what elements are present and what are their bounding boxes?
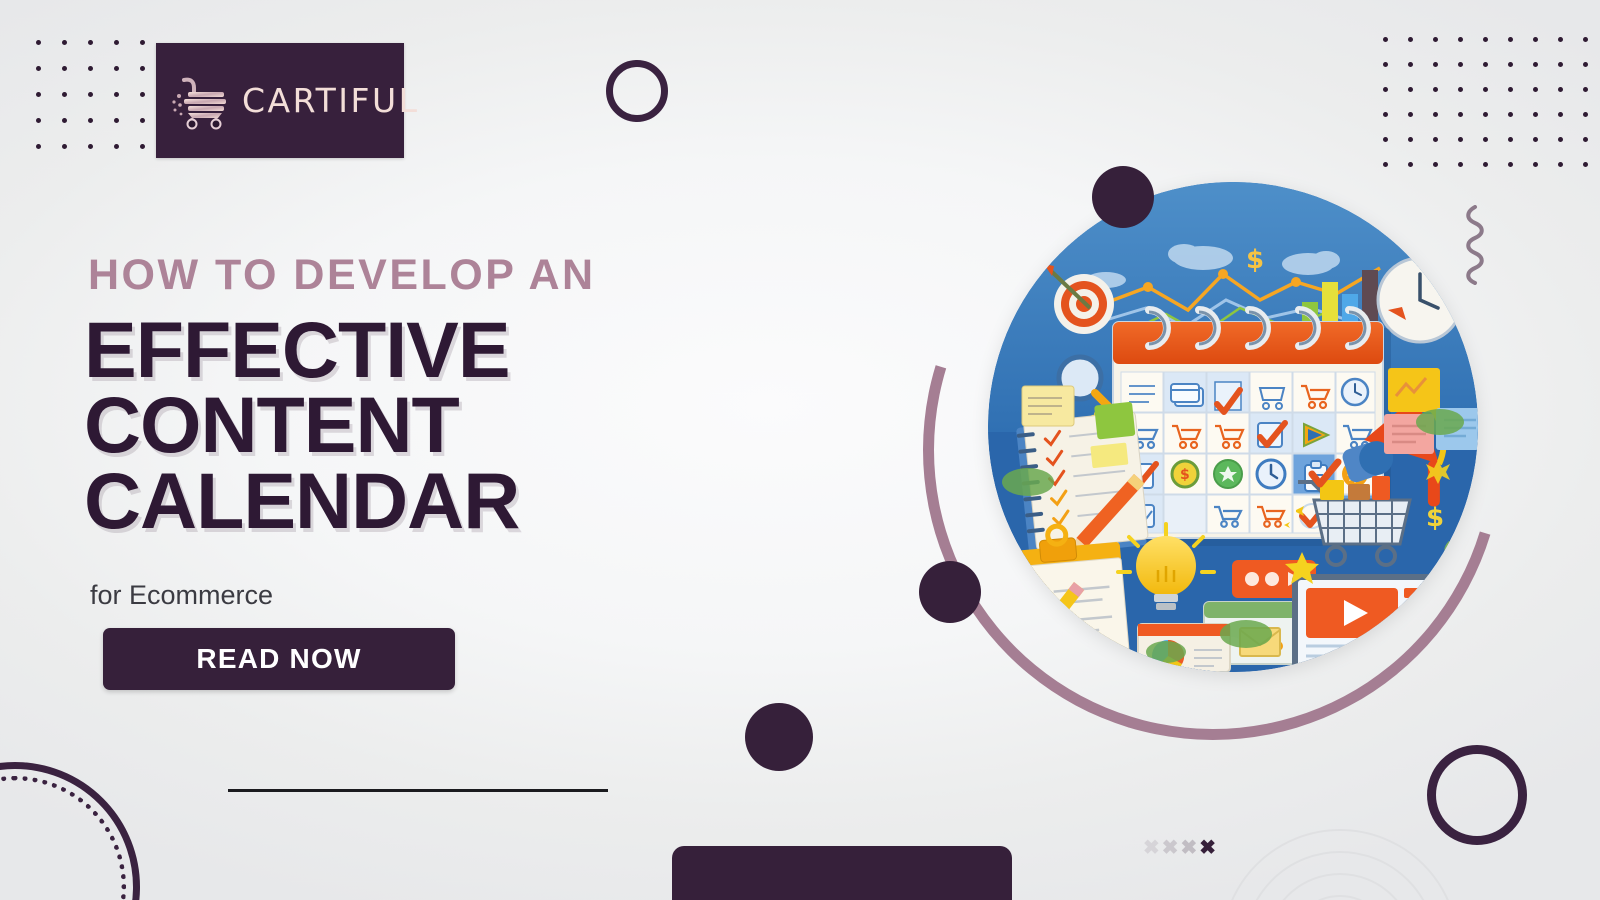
grid-dot	[1383, 137, 1388, 142]
ring-outline-top	[606, 60, 668, 122]
grid-dot	[1508, 162, 1513, 167]
grid-dot	[1458, 62, 1463, 67]
grid-dot	[1533, 112, 1538, 117]
grid-dot	[1483, 112, 1488, 117]
grid-dot	[1558, 112, 1563, 117]
grid-dot	[1483, 62, 1488, 67]
squiggle-decoration	[1462, 205, 1488, 285]
headline-line-3: CALENDAR	[84, 463, 519, 538]
grid-dot	[62, 40, 67, 45]
grid-dot	[88, 118, 93, 123]
grid-dot	[140, 144, 145, 149]
solid-dot-illustration-left	[919, 561, 981, 623]
concentric-arcs-decoration	[1200, 818, 1480, 900]
grid-dot	[1433, 87, 1438, 92]
x-mark-icon: ✖	[1181, 838, 1198, 858]
grid-dot	[1558, 162, 1563, 167]
grid-dot	[114, 144, 119, 149]
grid-dot	[1533, 137, 1538, 142]
grid-dot	[36, 118, 41, 123]
grid-dot	[1408, 162, 1413, 167]
grid-dot	[1483, 162, 1488, 167]
grid-dot	[1533, 162, 1538, 167]
grid-dot	[88, 66, 93, 71]
grid-dot	[1458, 112, 1463, 117]
grid-dot	[1433, 162, 1438, 167]
read-now-button[interactable]: READ NOW	[103, 628, 455, 690]
grid-dot	[1433, 112, 1438, 117]
speeding-shopping-cart-icon	[170, 72, 232, 130]
x-mark-icon: ✖	[1199, 838, 1216, 858]
grid-dot	[62, 66, 67, 71]
grid-dot	[1408, 112, 1413, 117]
grid-dot	[88, 92, 93, 97]
svg-text:$: $	[1426, 503, 1444, 533]
brand-wordmark: CARTIFUL	[242, 81, 420, 120]
grid-dot	[1508, 137, 1513, 142]
grid-dot	[1558, 87, 1563, 92]
grid-dot	[140, 92, 145, 97]
grid-dot	[1383, 37, 1388, 42]
banner-canvas: ✖ ✖ ✖ ✖	[0, 0, 1600, 900]
page-title: EFFECTIVE CONTENT CALENDAR	[84, 312, 519, 538]
grid-dot	[1583, 137, 1588, 142]
grid-dot	[1558, 137, 1563, 142]
grid-dot	[1408, 87, 1413, 92]
grid-dot	[1383, 62, 1388, 67]
svg-text:$: $	[1246, 245, 1264, 275]
grid-dot	[1583, 162, 1588, 167]
grid-dot	[62, 92, 67, 97]
grid-dot	[1383, 162, 1388, 167]
grid-dot	[114, 66, 119, 71]
corner-arc-dotted	[0, 776, 126, 900]
grid-dot	[1458, 37, 1463, 42]
grid-dot	[140, 66, 145, 71]
grid-dot	[1508, 87, 1513, 92]
grid-dot	[36, 40, 41, 45]
brand-logo[interactable]: CARTIFUL	[156, 43, 404, 158]
grid-dot	[1508, 62, 1513, 67]
grid-dot	[1558, 37, 1563, 42]
grid-dot	[140, 40, 145, 45]
solid-dot-illustration-top	[1092, 166, 1154, 228]
grid-dot	[88, 144, 93, 149]
headline-line-2: CONTENT	[84, 387, 519, 462]
grid-dot	[88, 40, 93, 45]
grid-dot	[1558, 62, 1563, 67]
x-mark-icon: ✖	[1143, 838, 1160, 858]
grid-dot	[114, 40, 119, 45]
grid-dot	[1458, 162, 1463, 167]
grid-dot	[1483, 37, 1488, 42]
headline-line-1: EFFECTIVE	[84, 312, 519, 387]
grid-dot	[1508, 112, 1513, 117]
grid-dot	[1408, 62, 1413, 67]
grid-dot	[114, 92, 119, 97]
subtitle-text: for Ecommerce	[90, 580, 273, 611]
grid-dot	[1408, 37, 1413, 42]
grid-dot	[62, 118, 67, 123]
solid-dot-center	[745, 703, 813, 771]
grid-dot	[1383, 112, 1388, 117]
grid-dot	[1483, 87, 1488, 92]
grid-dot	[1483, 137, 1488, 142]
grid-dot	[36, 92, 41, 97]
grid-dot	[1583, 112, 1588, 117]
grid-dot	[1583, 37, 1588, 42]
grid-dot	[1408, 137, 1413, 142]
grid-dot	[1533, 62, 1538, 67]
grid-dot	[1383, 87, 1388, 92]
grid-dot	[1533, 37, 1538, 42]
svg-text:$: $	[1180, 467, 1190, 483]
grid-dot	[1508, 37, 1513, 42]
grid-dot	[1433, 37, 1438, 42]
grid-dot	[62, 144, 67, 149]
grid-dot	[1433, 62, 1438, 67]
grid-dot	[114, 118, 119, 123]
grid-dot	[36, 66, 41, 71]
x-marks-decoration: ✖ ✖ ✖ ✖	[1143, 838, 1216, 858]
grid-dot	[1583, 87, 1588, 92]
grid-dot	[36, 144, 41, 149]
grid-dot	[1458, 137, 1463, 142]
x-mark-icon: ✖	[1162, 838, 1179, 858]
content-calendar-illustration: $ $ $	[988, 182, 1478, 672]
grid-dot	[1433, 137, 1438, 142]
bottom-accent-bar	[672, 846, 1012, 900]
eyebrow-text: HOW TO DEVELOP AN	[88, 251, 596, 300]
grid-dot	[1533, 87, 1538, 92]
ring-outline-bottom-right	[1427, 745, 1527, 845]
grid-dot	[1458, 87, 1463, 92]
divider-rule	[228, 789, 608, 792]
grid-dot	[140, 118, 145, 123]
grid-dot	[1583, 62, 1588, 67]
